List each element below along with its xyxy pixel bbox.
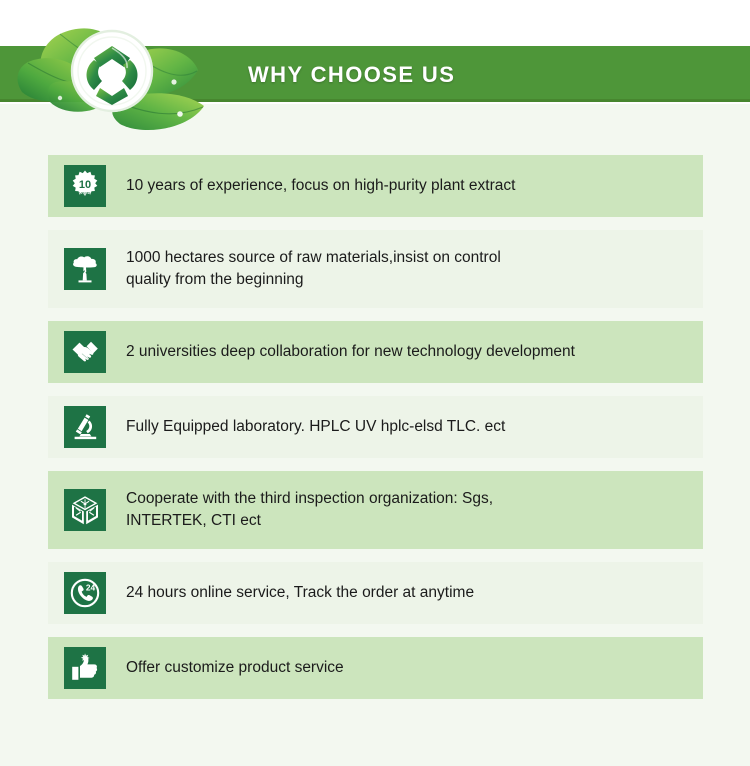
svg-text:24: 24 [86,583,96,593]
list-item-label: Fully Equipped laboratory. HPLC UV hplc-… [126,416,703,438]
svg-text:10: 10 [79,179,91,191]
list-item: 10 years 10 years of experience, focus o… [48,155,703,217]
ten-years-badge-icon: 10 years [64,165,106,207]
list-item: 1000 hectares source of raw materials,in… [48,230,703,308]
thumbs-up-icon [64,647,106,689]
list-item: 24 24 hours online service, Track the or… [48,562,703,624]
list-item: Fully Equipped laboratory. HPLC UV hplc-… [48,396,703,458]
microscope-icon [64,406,106,448]
list-item-label: 1000 hectares source of raw materials,in… [126,247,703,291]
24h-phone-support-icon: 24 [64,572,106,614]
benefits-list: 10 years 10 years of experience, focus o… [48,155,703,712]
svg-text:years: years [79,191,91,196]
list-item: 2 universities deep collaboration for ne… [48,321,703,383]
list-item-label: 10 years of experience, focus on high-pu… [126,175,703,197]
list-item-label: 24 hours online service, Track the order… [126,582,703,604]
green-leaf-recycle-logo [8,10,224,136]
list-item: Offer customize product service [48,637,703,699]
page-title: WHY CHOOSE US [248,58,688,92]
list-item: Cooperate with the third inspection orga… [48,471,703,549]
list-item-label: 2 universities deep collaboration for ne… [126,341,703,363]
list-item-label: Cooperate with the third inspection orga… [126,488,703,532]
package-box-icon [64,489,106,531]
tree-icon [64,248,106,290]
handshake-icon [64,331,106,373]
list-item-label: Offer customize product service [126,657,703,679]
